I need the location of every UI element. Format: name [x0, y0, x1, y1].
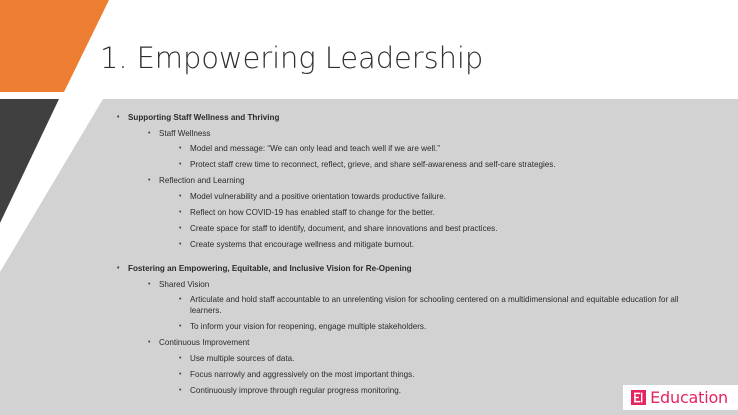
bullet-level3-text: Protect staff crew time to reconnect, re…: [190, 160, 700, 171]
bullet-level2: Continuous Improvement: [112, 338, 700, 349]
bullet-level3-text: Create space for staff to identify, docu…: [190, 224, 700, 235]
bullet-level1: Fostering an Empowering, Equitable, and …: [112, 264, 700, 275]
bullet-level3: Create space for staff to identify, docu…: [112, 224, 700, 235]
bullet-level3-text: Reflect on how COVID-19 has enabled staf…: [190, 208, 700, 219]
bullet-level3: Continuously improve through regular pro…: [112, 386, 700, 397]
bullet-level1-text: Supporting Staff Wellness and Thriving: [128, 113, 700, 124]
bullet-level3: To inform your vision for reopening, eng…: [112, 322, 700, 333]
bullet-level3: Protect staff crew time to reconnect, re…: [112, 160, 700, 171]
bullet-level3: Articulate and hold staff accountable to…: [112, 295, 700, 316]
bullet-level3-text: Create systems that encourage wellness a…: [190, 240, 700, 251]
bullet-level3-text: To inform your vision for reopening, eng…: [190, 322, 700, 333]
bullet-level3: Focus narrowly and aggressively on the m…: [112, 370, 700, 381]
page-title-text: 1. Empowering Leadership: [100, 43, 483, 75]
bullet-level3: Create systems that encourage wellness a…: [112, 240, 700, 251]
content-block: Fostering an Empowering, Equitable, and …: [112, 264, 700, 397]
bullet-level1: Supporting Staff Wellness and Thriving: [112, 113, 700, 124]
bullet-level3: Model and message: “We can only lead and…: [112, 144, 700, 155]
bullet-level2: Staff Wellness: [112, 129, 700, 140]
bullet-level3-text: Articulate and hold staff accountable to…: [190, 295, 700, 316]
bullet-level3-text: Use multiple sources of data.: [190, 354, 700, 365]
bullet-level2-text: Reflection and Learning: [159, 176, 700, 187]
slide-content: Supporting Staff Wellness and Thriving S…: [112, 113, 700, 402]
bullet-level3: Use multiple sources of data.: [112, 354, 700, 365]
bullet-level1-text: Fostering an Empowering, Equitable, and …: [128, 264, 700, 275]
bullet-level2-text: Staff Wellness: [159, 129, 700, 140]
dark-gray-triangle: [0, 99, 59, 223]
logo-text: Education: [650, 390, 728, 406]
education-logo: Education: [623, 385, 738, 410]
bullet-level3-text: Focus narrowly and aggressively on the m…: [190, 370, 700, 381]
logo-monogram-icon: [631, 390, 646, 405]
bullet-level3-text: Model vulnerability and a positive orien…: [190, 192, 700, 203]
bullet-level2: Shared Vision: [112, 280, 700, 291]
page-title: 1. Empowering Leadership: [100, 31, 700, 87]
orange-parallelogram: [0, 0, 109, 92]
bullet-level2-text: Shared Vision: [159, 280, 700, 291]
bullet-level3: Reflect on how COVID-19 has enabled staf…: [112, 208, 700, 219]
slide: 1. Empowering Leadership Supporting Staf…: [0, 0, 738, 415]
bullet-level3: Model vulnerability and a positive orien…: [112, 192, 700, 203]
bullet-level2: Reflection and Learning: [112, 176, 700, 187]
bullet-level2-text: Continuous Improvement: [159, 338, 700, 349]
bullet-level3-text: Model and message: “We can only lead and…: [190, 144, 700, 155]
content-block: Supporting Staff Wellness and Thriving S…: [112, 113, 700, 251]
